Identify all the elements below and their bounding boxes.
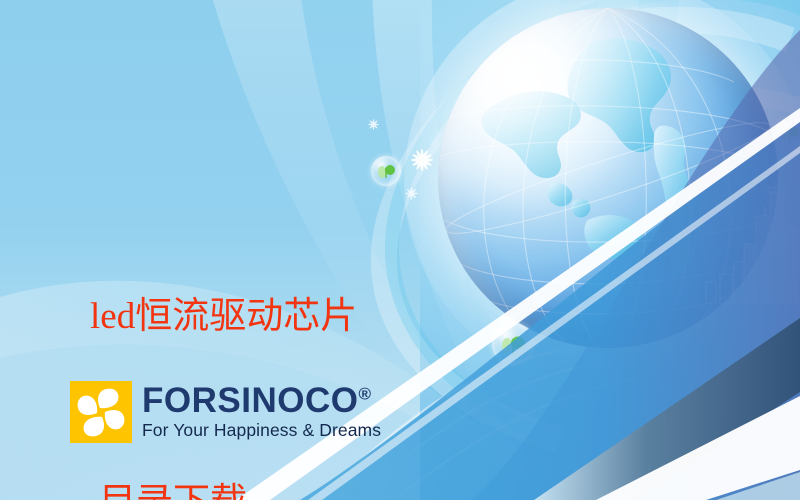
brand-tagline: For Your Happiness & Dreams (142, 420, 381, 440)
registered-trademark-symbol: ® (358, 384, 371, 403)
headline-text: led恒流驱动芯片 目录下载 (90, 162, 357, 500)
pinwheel-flower-icon (70, 381, 132, 443)
pinwheel-petals (70, 381, 132, 443)
brand-name: FORSINOCO (142, 381, 358, 420)
brand-wordmark: FORSINOCO® (142, 383, 381, 419)
headline-line-2: 目录下载 (90, 472, 357, 500)
logo-text-block: FORSINOCO® For Your Happiness & Dreams (142, 381, 381, 440)
poster-canvas: led恒流驱动芯片 目录下载 FORSINOCO® For Your Happi… (0, 0, 800, 500)
brand-logo: FORSINOCO® For Your Happiness & Dreams (70, 381, 381, 443)
headline-line-1: led恒流驱动芯片 (90, 286, 357, 348)
